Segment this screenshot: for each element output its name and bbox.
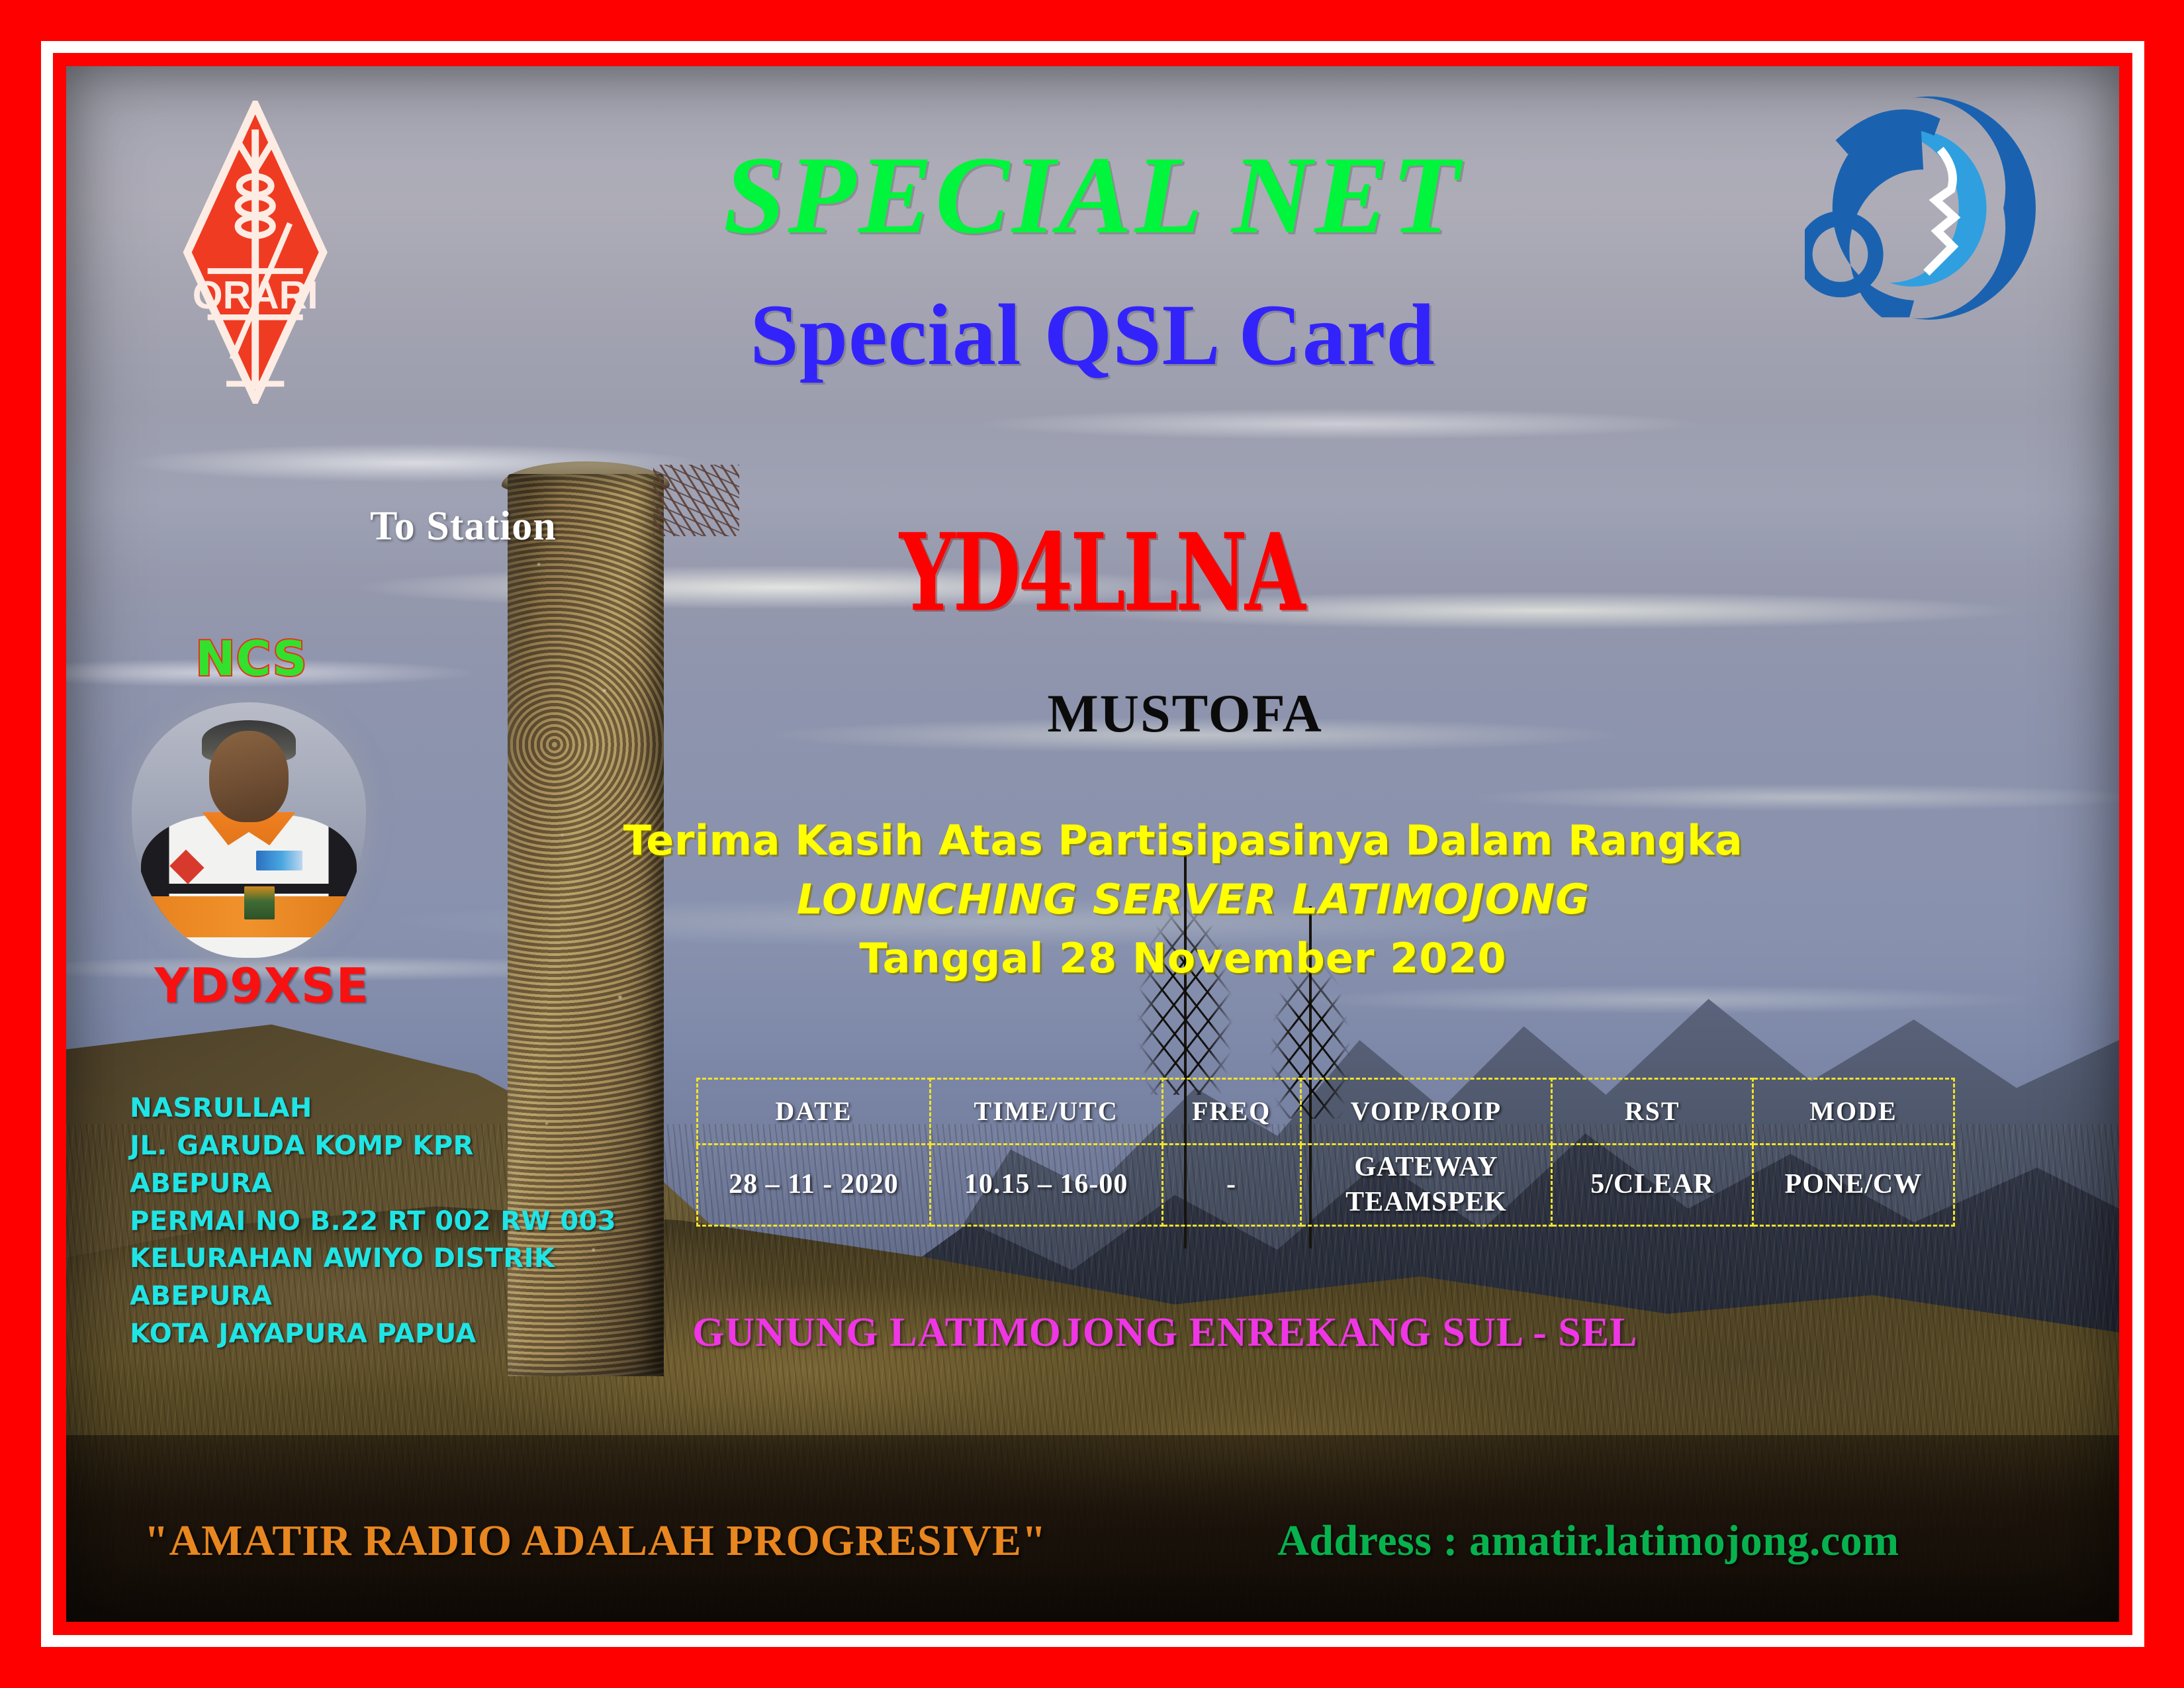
cell-rst: 5/CLEAR: [1552, 1144, 1753, 1225]
address-line: ABEPURA: [130, 1278, 616, 1315]
card-inner-red-border: ORARI SPECIAL NET Special QSL Card To St…: [53, 53, 2132, 1635]
photo-chest-logo: [256, 851, 303, 871]
event-name: LOUNCHING SERVER LATIMOJONG: [797, 875, 1590, 923]
location-caption: GUNUNG LATIMOJONG ENREKANG SUL - SEL: [692, 1309, 1637, 1356]
to-station-label: To Station: [370, 503, 557, 550]
address-block: NASRULLAH JL. GARUDA KOMP KPR ABEPURA PE…: [130, 1090, 616, 1353]
station-callsign-text: YD4LLNA: [899, 510, 1303, 635]
address-line: NASRULLAH: [130, 1090, 616, 1127]
cell-mode: PONE/CW: [1753, 1144, 1954, 1225]
column-header-date: DATE: [698, 1078, 930, 1144]
cell-time: 10.15 – 16-00: [930, 1144, 1162, 1225]
station-callsign: YD4LLNA: [886, 524, 1316, 622]
ncs-callsign: YD9XSE: [154, 958, 369, 1013]
ncs-operator-photo: [132, 702, 366, 957]
column-header-rst: RST: [1552, 1078, 1753, 1144]
footer-web-address: Address : amatir.latimojong.com: [1277, 1516, 1899, 1566]
page-title: SPECIAL NET: [723, 132, 1462, 259]
photo-id-card: [244, 886, 275, 919]
address-line: JL. GARUDA KOMP KPR: [130, 1127, 616, 1165]
ncs-label: NCS: [195, 631, 307, 686]
cell-date: 28 – 11 - 2020: [698, 1144, 930, 1225]
column-header-freq: FREQ: [1162, 1078, 1300, 1144]
address-line: KELURAHAN AWIYO DISTRIK: [130, 1240, 616, 1278]
qsl-card: ORARI SPECIAL NET Special QSL Card To St…: [0, 0, 2184, 1688]
column-header-mode: MODE: [1753, 1078, 1954, 1144]
address-line: PERMAI NO B.22 RT 002 RW 003: [130, 1203, 616, 1241]
qso-table: DATE TIME/UTC FREQ VOIP/ROIP RST MODE 28…: [696, 1078, 1955, 1227]
page-subtitle: Special QSL Card: [750, 284, 1435, 385]
footer-motto: "AMATIR RADIO ADALAH PROGRESIVE": [144, 1516, 1047, 1566]
thanks-line: Terima Kasih Atas Partisipasinya Dalam R…: [623, 816, 1743, 865]
orari-logo: ORARI: [161, 101, 349, 404]
card-white-gap: ORARI SPECIAL NET Special QSL Card To St…: [41, 41, 2144, 1647]
address-line: KOTA JAYAPURA PAPUA: [130, 1315, 616, 1353]
table-header-row: DATE TIME/UTC FREQ VOIP/ROIP RST MODE: [698, 1078, 1954, 1144]
table-row: 28 – 11 - 2020 10.15 – 16-00 - GATEWAYTE…: [698, 1144, 1954, 1225]
raynet-headset-logo: [1805, 91, 2051, 325]
address-line: ABEPURA: [130, 1165, 616, 1203]
column-header-voip: VOIP/ROIP: [1300, 1078, 1552, 1144]
cell-voip: GATEWAYTEAMSPEK: [1300, 1144, 1552, 1225]
photo-face: [209, 731, 289, 823]
column-header-time: TIME/UTC: [930, 1078, 1162, 1144]
orari-logo-text: ORARI: [192, 274, 318, 317]
operator-name: MUSTOFA: [1047, 682, 1322, 745]
card-photo-area: ORARI SPECIAL NET Special QSL Card To St…: [66, 66, 2119, 1622]
cell-freq: -: [1162, 1144, 1300, 1225]
event-date: Tanggal 28 November 2020: [859, 934, 1506, 982]
